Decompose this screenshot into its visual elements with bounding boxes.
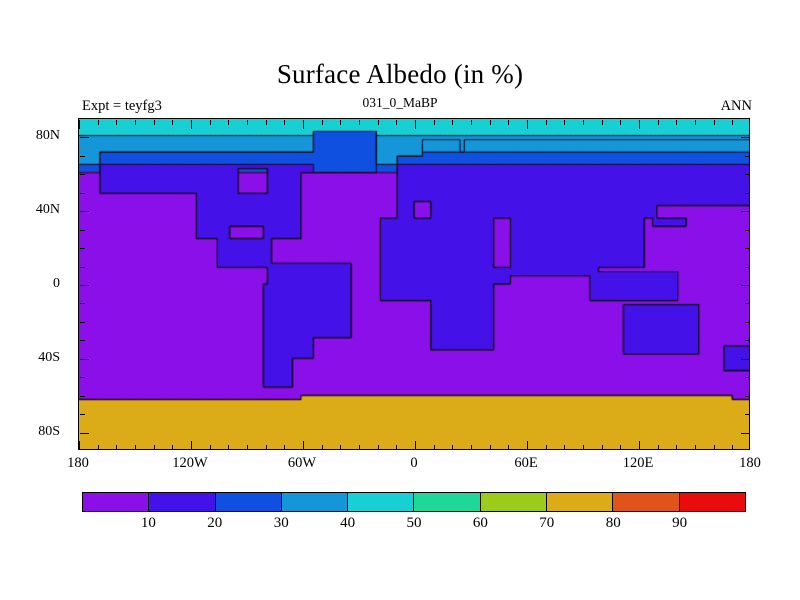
axis-tick xyxy=(745,193,750,194)
axis-tick xyxy=(135,445,136,450)
axis-tick xyxy=(658,120,659,125)
axis-tick xyxy=(154,445,155,450)
axis-tick xyxy=(80,211,89,212)
colorbar-swatch xyxy=(149,493,215,511)
axis-tick xyxy=(639,441,640,450)
axis-tick xyxy=(359,445,360,450)
axis-tick xyxy=(527,120,528,129)
axis-tick xyxy=(247,120,248,125)
axis-tick xyxy=(80,230,85,231)
axis-tick xyxy=(452,120,453,125)
axis-tick xyxy=(452,445,453,450)
axis-tick xyxy=(79,441,80,450)
colorbar xyxy=(82,492,746,512)
axis-tick xyxy=(98,120,99,125)
x-axis-labels: 180120W60W060E120E180 xyxy=(78,456,750,476)
colorbar-tick-label: 40 xyxy=(340,514,355,532)
axis-tick xyxy=(741,211,750,212)
axis-tick xyxy=(732,445,733,450)
axis-tick xyxy=(732,120,733,125)
axis-tick xyxy=(564,445,565,450)
colorbar-tick-label: 80 xyxy=(606,514,621,532)
axis-tick xyxy=(695,120,696,125)
colorbar-tick-label: 90 xyxy=(672,514,687,532)
axis-tick xyxy=(154,120,155,125)
axis-tick xyxy=(471,445,472,450)
y-tick-label: 80S xyxy=(38,425,60,439)
axis-tick xyxy=(546,445,547,450)
axis-tick xyxy=(741,285,750,286)
axis-tick xyxy=(303,120,304,129)
axis-tick xyxy=(191,441,192,450)
colorbar-swatch xyxy=(348,493,414,511)
x-tick-label: 120E xyxy=(623,456,654,471)
axis-tick xyxy=(490,120,491,125)
colorbar-tick-label: 60 xyxy=(473,514,488,532)
axis-tick xyxy=(80,340,85,341)
colorbar-swatch xyxy=(680,493,745,511)
y-tick-label: 0 xyxy=(53,277,60,291)
axis-tick xyxy=(508,120,509,125)
colorbar-swatch xyxy=(83,493,149,511)
axis-tick xyxy=(98,445,99,450)
axis-tick xyxy=(80,174,85,175)
axis-tick xyxy=(415,441,416,450)
axis-tick xyxy=(80,193,85,194)
axis-tick xyxy=(135,120,136,125)
axis-tick xyxy=(172,120,173,125)
axis-tick xyxy=(745,174,750,175)
axis-tick xyxy=(564,120,565,125)
axis-tick xyxy=(490,445,491,450)
map-plot-area xyxy=(78,118,750,450)
figure-canvas: Surface Albedo (in %) Expt = teyfg3 031_… xyxy=(0,0,800,600)
axis-tick xyxy=(695,445,696,450)
axis-tick xyxy=(745,322,750,323)
x-tick-label: 0 xyxy=(410,456,417,471)
y-tick-label: 40N xyxy=(36,203,60,217)
axis-tick xyxy=(378,120,379,125)
x-tick-label: 60E xyxy=(514,456,537,471)
y-axis-labels: 80N40N040S80S xyxy=(0,118,72,450)
axis-tick xyxy=(266,445,267,450)
axis-tick xyxy=(284,445,285,450)
axis-tick xyxy=(602,120,603,125)
axis-tick xyxy=(79,120,80,129)
axis-tick xyxy=(602,445,603,450)
axis-tick xyxy=(745,396,750,397)
y-tick-label: 40S xyxy=(38,351,60,365)
axis-tick xyxy=(266,120,267,125)
axis-tick xyxy=(80,433,89,434)
axis-tick xyxy=(247,445,248,450)
season-label: ANN xyxy=(721,98,752,114)
axis-tick xyxy=(714,445,715,450)
axis-tick xyxy=(676,120,677,125)
x-tick-label: 180 xyxy=(739,456,761,471)
axis-tick xyxy=(714,120,715,125)
colorbar-swatch xyxy=(481,493,547,511)
axis-tick xyxy=(80,137,89,138)
axis-tick xyxy=(80,414,85,415)
axis-tick xyxy=(80,322,85,323)
axis-tick xyxy=(80,267,85,268)
axis-tick xyxy=(583,120,584,125)
axis-tick xyxy=(116,445,117,450)
axis-tick xyxy=(396,120,397,125)
colorbar-labels: 102030405060708090 xyxy=(82,514,746,536)
axis-tick xyxy=(191,120,192,129)
colorbar-swatch xyxy=(547,493,613,511)
axis-tick xyxy=(745,414,750,415)
axis-tick xyxy=(322,120,323,125)
axis-tick xyxy=(676,445,677,450)
axis-tick xyxy=(745,377,750,378)
axis-tick xyxy=(228,120,229,125)
axis-tick xyxy=(745,303,750,304)
axis-tick xyxy=(471,120,472,125)
colorbar-tick-label: 20 xyxy=(207,514,222,532)
axis-tick xyxy=(359,120,360,125)
axis-tick xyxy=(284,120,285,125)
axis-tick xyxy=(303,441,304,450)
axis-tick xyxy=(639,120,640,129)
colorbar-swatch xyxy=(414,493,480,511)
axis-tick xyxy=(80,248,85,249)
colorbar-tick-label: 10 xyxy=(141,514,156,532)
axis-tick xyxy=(745,340,750,341)
axis-tick xyxy=(210,445,211,450)
axis-tick xyxy=(80,396,85,397)
axis-tick xyxy=(434,120,435,125)
axis-tick xyxy=(378,445,379,450)
axis-tick xyxy=(546,120,547,125)
axis-tick xyxy=(620,120,621,125)
axis-tick xyxy=(228,445,229,450)
axis-tick xyxy=(80,156,85,157)
axis-tick xyxy=(80,359,89,360)
axis-tick xyxy=(80,303,85,304)
page-title: Surface Albedo (in %) xyxy=(0,58,800,90)
axis-tick xyxy=(741,359,750,360)
axis-tick xyxy=(322,445,323,450)
colorbar-tick-label: 70 xyxy=(539,514,554,532)
axis-tick xyxy=(527,441,528,450)
axis-tick xyxy=(508,445,509,450)
axis-tick xyxy=(741,433,750,434)
axis-tick xyxy=(116,120,117,125)
colorbar-swatch xyxy=(282,493,348,511)
axis-tick xyxy=(80,377,85,378)
axis-tick xyxy=(396,445,397,450)
axis-tick xyxy=(80,285,89,286)
axis-tick xyxy=(741,137,750,138)
y-tick-label: 80N xyxy=(36,129,60,143)
colorbar-swatch xyxy=(613,493,679,511)
axis-tick xyxy=(210,120,211,125)
colorbar-swatch xyxy=(216,493,282,511)
axis-tick xyxy=(583,445,584,450)
axis-tick xyxy=(172,445,173,450)
x-tick-label: 120W xyxy=(172,456,207,471)
axis-tick xyxy=(658,445,659,450)
axis-tick xyxy=(340,445,341,450)
axis-tick xyxy=(745,230,750,231)
axis-tick xyxy=(620,445,621,450)
case-label: 031_0_MaBP xyxy=(0,95,800,111)
colorbar-tick-label: 30 xyxy=(274,514,289,532)
axis-tick xyxy=(745,248,750,249)
x-tick-label: 60W xyxy=(288,456,316,471)
axis-tick xyxy=(434,445,435,450)
axis-tick xyxy=(340,120,341,125)
axis-tick xyxy=(745,156,750,157)
axis-tick xyxy=(749,441,750,450)
x-tick-label: 180 xyxy=(67,456,89,471)
albedo-field-raster xyxy=(79,119,749,449)
axis-tick xyxy=(749,120,750,129)
axis-tick xyxy=(415,120,416,129)
colorbar-tick-label: 50 xyxy=(407,514,422,532)
axis-tick xyxy=(745,267,750,268)
